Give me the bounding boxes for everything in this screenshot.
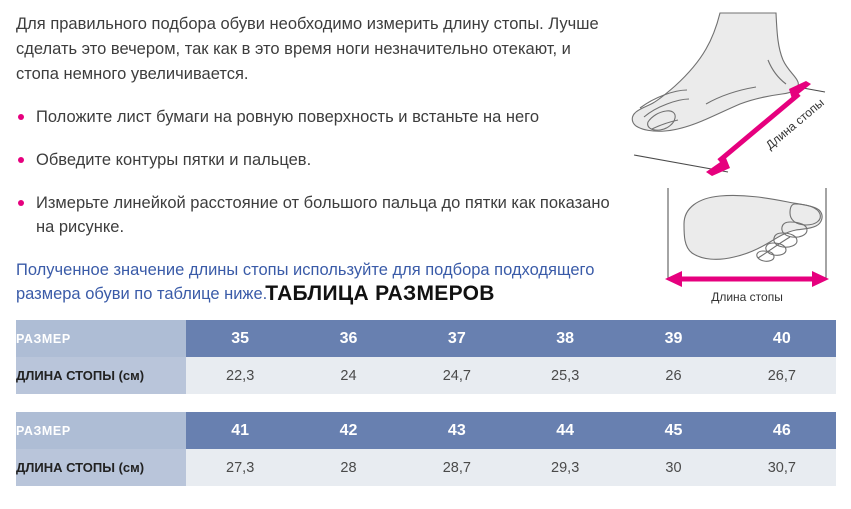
length-value-cell: 24,7 xyxy=(403,357,511,394)
bullet-dot-icon xyxy=(18,157,24,163)
bullet-dot-icon xyxy=(18,114,24,120)
header-size-cell: 44 xyxy=(511,412,619,449)
sole-shape xyxy=(684,195,822,259)
table-header-row: РАЗМЕР 41 42 43 44 45 46 xyxy=(16,412,836,449)
header-size-cell: 43 xyxy=(403,412,511,449)
size-table-2: РАЗМЕР 41 42 43 44 45 46 ДЛИНА СТОПЫ (см… xyxy=(16,412,836,486)
header-size-cell: 46 xyxy=(728,412,836,449)
length-value-cell: 27,3 xyxy=(186,449,294,486)
foot-side-view-illustration: Длина стопы xyxy=(620,0,851,180)
length-value-cell: 30,7 xyxy=(728,449,836,486)
intro-paragraph: Для правильного подбора обуви необходимо… xyxy=(16,12,616,87)
header-size-cell: 35 xyxy=(186,320,294,357)
header-size-cell: 38 xyxy=(511,320,619,357)
header-label-cell: РАЗМЕР xyxy=(16,320,186,357)
list-item: Положите лист бумаги на ровную поверхнос… xyxy=(16,105,616,129)
foot-sole-view-illustration: Длина стопы xyxy=(640,180,851,310)
table-row: ДЛИНА СТОПЫ (см) 22,3 24 24,7 25,3 26 26… xyxy=(16,357,836,394)
length-value-cell: 26,7 xyxy=(728,357,836,394)
length-value-cell: 25,3 xyxy=(511,357,619,394)
step-text: Обведите контуры пятки и пальцев. xyxy=(36,151,311,169)
bullet-dot-icon xyxy=(18,200,24,206)
step-text: Измерьте линейкой расстояние от большого… xyxy=(36,194,610,236)
list-item: Обведите контуры пятки и пальцев. xyxy=(16,148,616,172)
length-value-cell: 28 xyxy=(294,449,402,486)
steps-list: Положите лист бумаги на ровную поверхнос… xyxy=(16,105,616,239)
dimension-arrow xyxy=(665,271,829,287)
size-table-1: РАЗМЕР 35 36 37 38 39 40 ДЛИНА СТОПЫ (см… xyxy=(16,320,836,394)
row-label-cell: ДЛИНА СТОПЫ (см) xyxy=(16,357,186,394)
header-size-cell: 42 xyxy=(294,412,402,449)
instructions-panel: Для правильного подбора обуви необходимо… xyxy=(16,12,616,306)
step-text: Положите лист бумаги на ровную поверхнос… xyxy=(36,108,539,126)
row-label-cell: ДЛИНА СТОПЫ (см) xyxy=(16,449,186,486)
list-item: Измерьте линейкой расстояние от большого… xyxy=(16,191,616,239)
dimension-label: Длина стопы xyxy=(711,290,783,304)
arrow-head-left xyxy=(706,158,730,176)
table-row: ДЛИНА СТОПЫ (см) 27,3 28 28,7 29,3 30 30… xyxy=(16,449,836,486)
header-size-cell: 45 xyxy=(619,412,727,449)
header-size-cell: 36 xyxy=(294,320,402,357)
header-size-cell: 39 xyxy=(619,320,727,357)
table-header-row: РАЗМЕР 35 36 37 38 39 40 xyxy=(16,320,836,357)
length-value-cell: 28,7 xyxy=(403,449,511,486)
dimension-label: Длина стопы xyxy=(763,96,827,153)
header-size-cell: 40 xyxy=(728,320,836,357)
header-label-cell: РАЗМЕР xyxy=(16,412,186,449)
toe-4 xyxy=(766,243,786,255)
toe-5 xyxy=(757,251,774,261)
length-value-cell: 29,3 xyxy=(511,449,619,486)
length-value-cell: 30 xyxy=(619,449,727,486)
header-size-cell: 41 xyxy=(186,412,294,449)
length-value-cell: 22,3 xyxy=(186,357,294,394)
length-value-cell: 24 xyxy=(294,357,402,394)
length-value-cell: 26 xyxy=(619,357,727,394)
header-size-cell: 37 xyxy=(403,320,511,357)
